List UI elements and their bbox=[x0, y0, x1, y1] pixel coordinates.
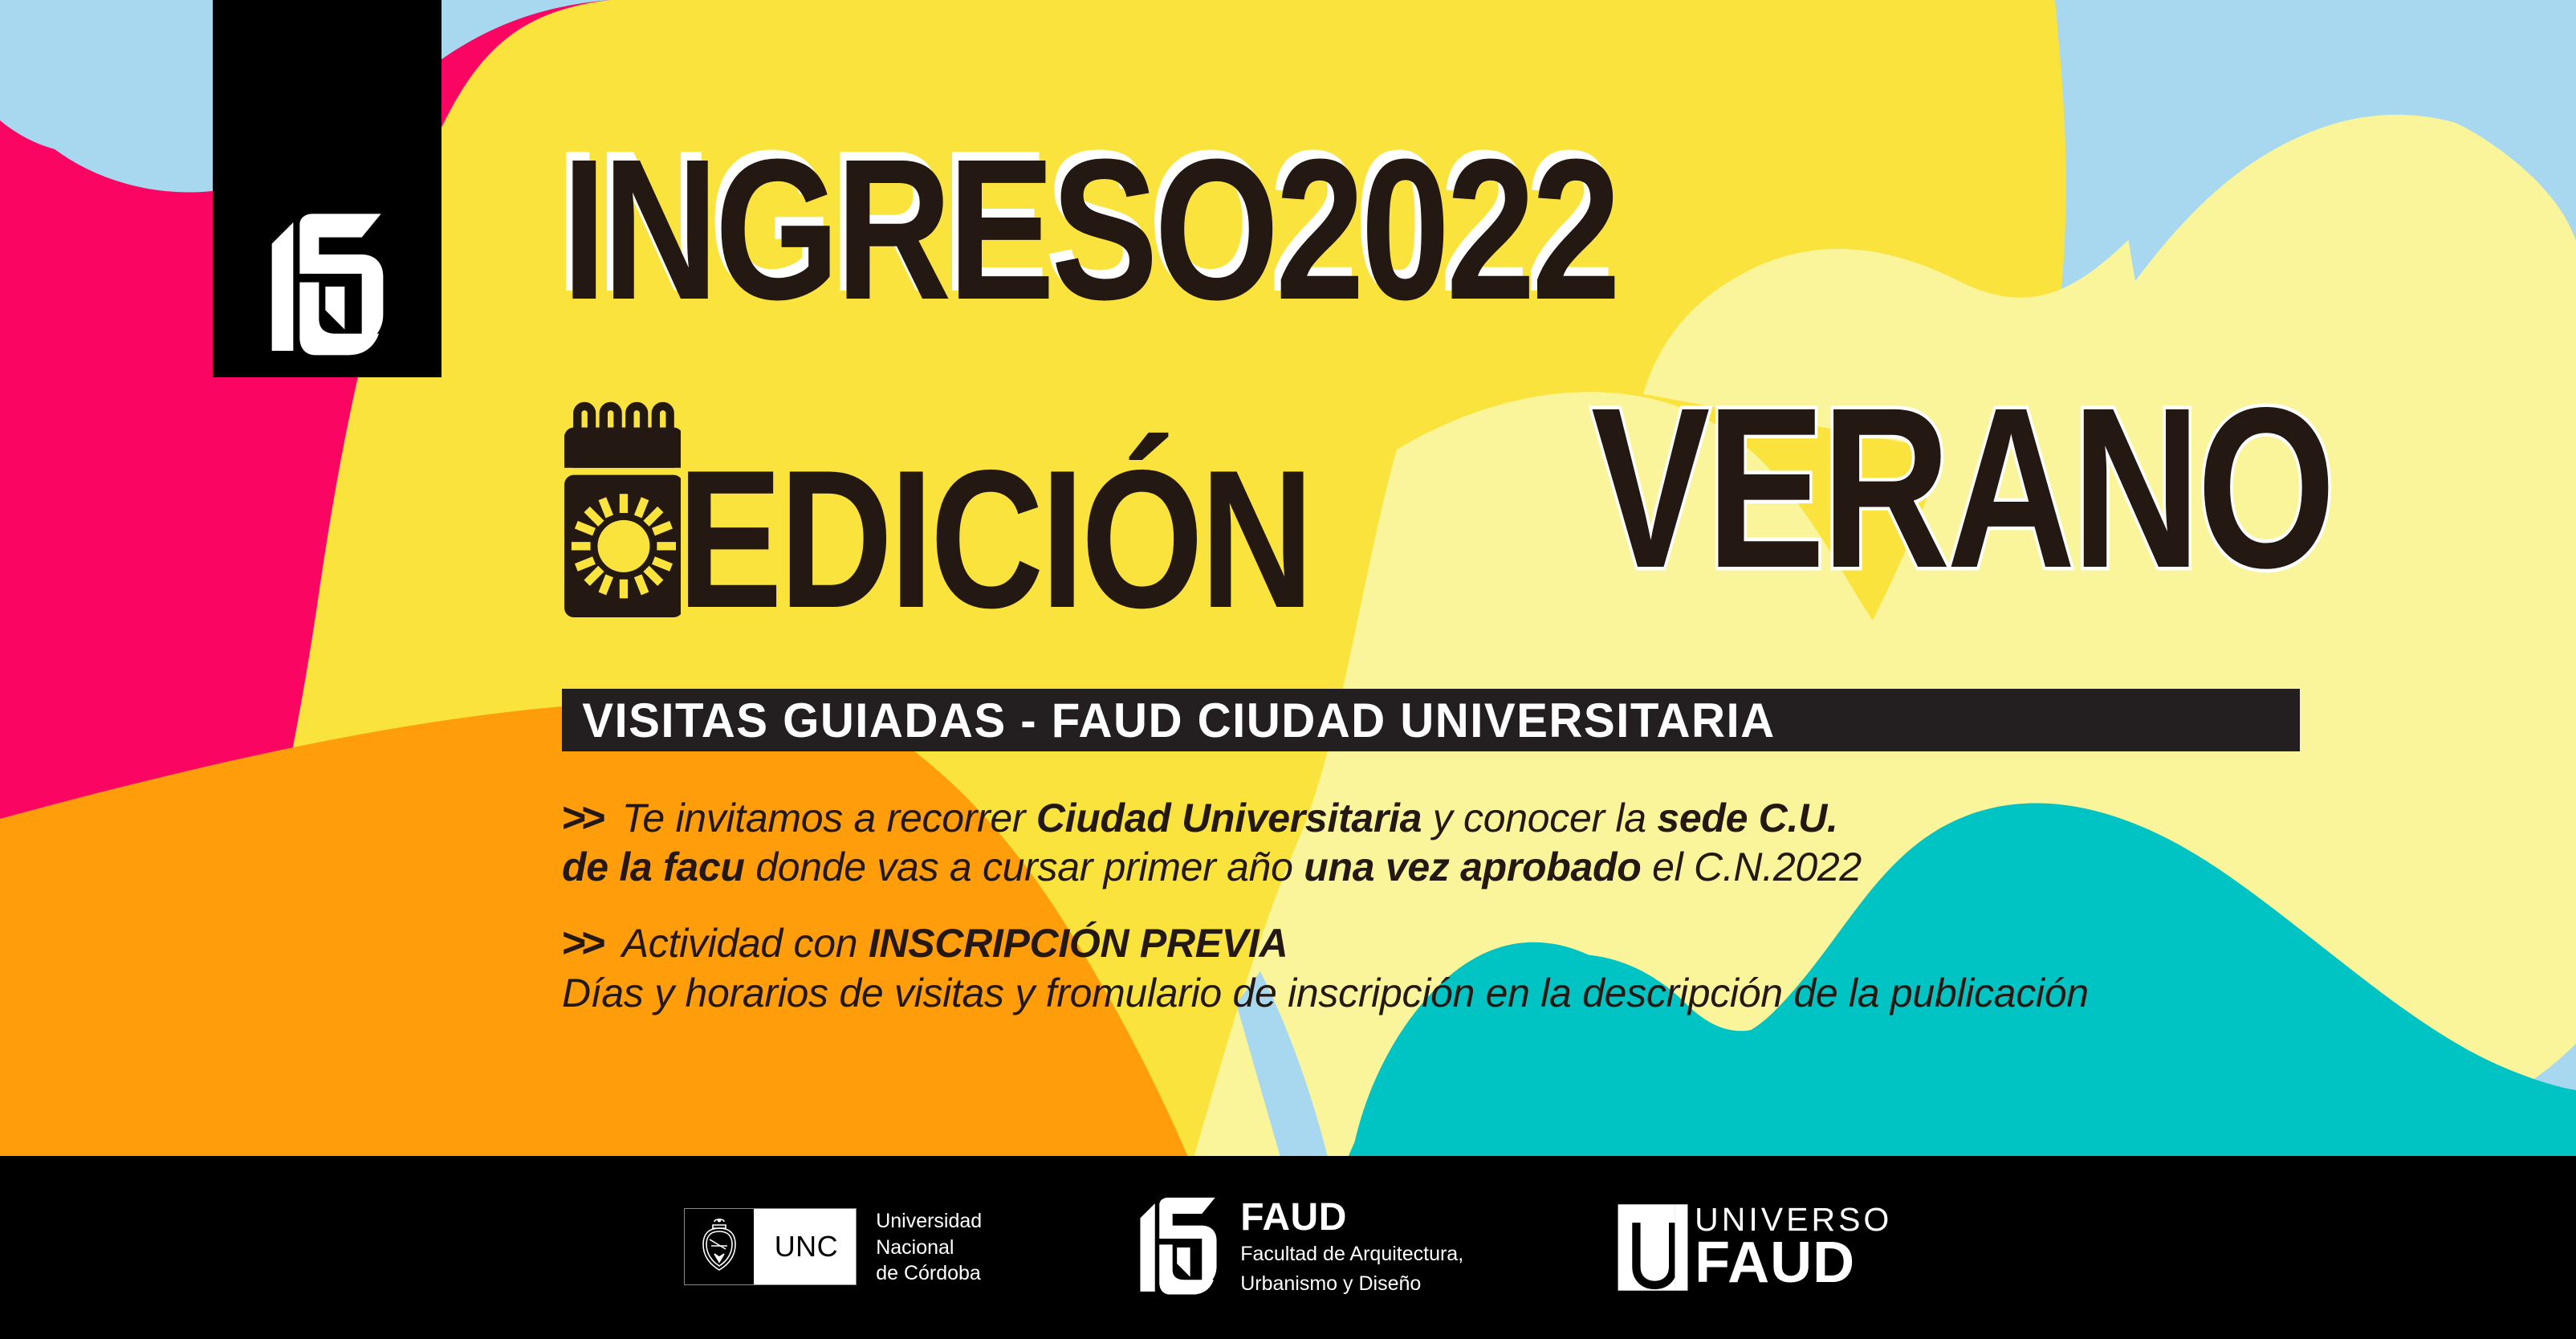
faud-sub2: Urbanismo y Diseño bbox=[1240, 1272, 1463, 1296]
banner-text: VISITAS GUIADAS - FAUD CIUDAD UNIVERSITA… bbox=[562, 693, 1776, 748]
faud-monogram-icon bbox=[1134, 1196, 1223, 1299]
unc-shield-icon bbox=[685, 1209, 754, 1284]
unc-abbr: UNC bbox=[754, 1230, 857, 1264]
paragraph-1: >>Te invitamos a recorrer Ciudad Univers… bbox=[562, 793, 2312, 891]
para1-line2-rich: de la facu donde vas a cursar primer año… bbox=[562, 845, 1862, 889]
para2-line1: >>Actividad con INSCRIPCIÓN PREVIA bbox=[562, 918, 2312, 968]
headline-edicion: EDICIÓN bbox=[678, 458, 1311, 620]
footer-bar: UNC Universidad Nacional de Córdoba FAUD… bbox=[0, 1156, 2576, 1339]
para1-line1: >>Te invitamos a recorrer Ciudad Univers… bbox=[562, 793, 2312, 843]
body-copy: >>Te invitamos a recorrer Ciudad Univers… bbox=[562, 793, 2312, 1017]
unc-name-line2: Nacional bbox=[876, 1235, 982, 1261]
chevron-icon: >> bbox=[562, 795, 601, 841]
para2-line2-rich: Días y horarios de visitas y fromulario … bbox=[562, 971, 2089, 1015]
unc-name-line3: de Córdoba bbox=[876, 1260, 982, 1287]
faud-sub1: Facultad de Arquitectura, bbox=[1240, 1242, 1463, 1267]
faud-monogram-icon bbox=[263, 210, 392, 363]
para1-line1-rich: Te invitamos a recorrer Ciudad Universit… bbox=[622, 796, 1838, 840]
unc-name-line1: Universidad bbox=[876, 1208, 982, 1235]
universo-u-icon bbox=[1616, 1203, 1690, 1292]
para2-line2: Días y horarios de visitas y fromulario … bbox=[562, 969, 2312, 1017]
calendar-sun-icon bbox=[562, 401, 681, 620]
faud-logo: FAUD Facultad de Arquitectura, Urbanismo… bbox=[1134, 1196, 1463, 1299]
poster-canvas: INGRESO2022 bbox=[0, 0, 2576, 1339]
faud-title: FAUD bbox=[1240, 1199, 1463, 1237]
headline-verano: VERANO bbox=[1591, 395, 2332, 583]
universo-bottom: FAUD bbox=[1695, 1235, 1892, 1290]
para2-line1-rich: Actividad con INSCRIPCIÓN PREVIA bbox=[622, 921, 1288, 966]
headline-block: INGRESO2022 bbox=[562, 143, 1881, 315]
headline-ingreso: INGRESO2022 bbox=[562, 143, 1617, 315]
faud-wordmark: FAUD Facultad de Arquitectura, Urbanismo… bbox=[1240, 1199, 1463, 1296]
unc-fullname: Universidad Nacional de Córdoba bbox=[876, 1208, 982, 1287]
paragraph-2: >>Actividad con INSCRIPCIÓN PREVIA Días … bbox=[562, 918, 2312, 1016]
unc-mark: UNC bbox=[684, 1208, 857, 1285]
para1-line2: de la facu donde vas a cursar primer año… bbox=[562, 843, 2312, 891]
universo-wordmark: UNIVERSO FAUD bbox=[1695, 1203, 1892, 1290]
banner-bar: VISITAS GUIADAS - FAUD CIUDAD UNIVERSITA… bbox=[562, 689, 2300, 751]
chevron-icon-2: >> bbox=[562, 920, 601, 967]
universo-faud-logo: UNIVERSO FAUD bbox=[1616, 1203, 1892, 1292]
faud-logo-box bbox=[213, 0, 442, 377]
headline-row-edicion: EDICIÓN bbox=[562, 401, 1469, 620]
unc-logo: UNC Universidad Nacional de Córdoba bbox=[684, 1208, 983, 1287]
